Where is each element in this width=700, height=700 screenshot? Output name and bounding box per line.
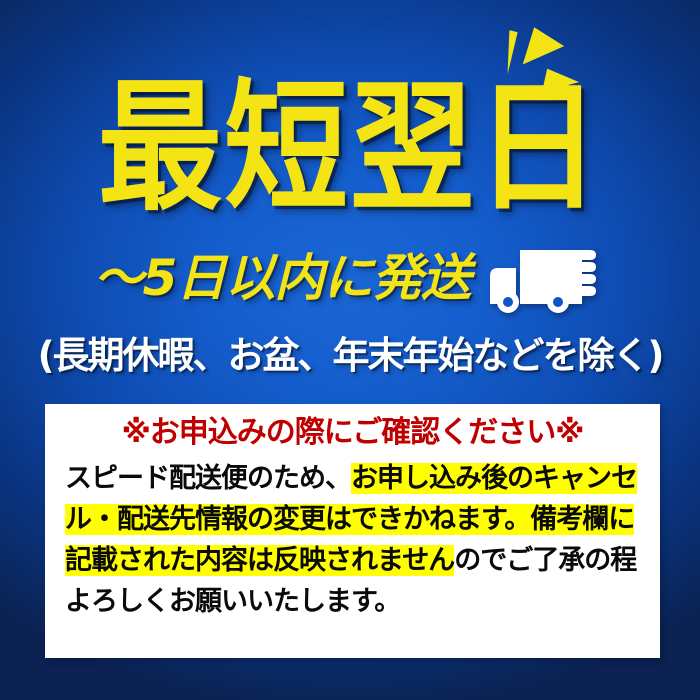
notice-card: ※お申込みの際にご確認ください※ スピード配送便のため、お申し込み後のキャンセル…: [45, 404, 660, 658]
shipping-timeframe-text: 〜5日以内に発送: [94, 253, 471, 303]
sparkle-ray-2-icon: [523, 27, 566, 68]
notice-card-title: ※お申込みの際にご確認ください※: [63, 414, 642, 452]
notice-card-body: スピード配送便のため、お申し込み後のキャンセル・配送先情報の変更はできかねます。…: [63, 458, 642, 622]
subline-container: 〜5日以内に発送: [0, 242, 700, 314]
delivery-truck-icon: [486, 242, 606, 314]
promo-banner: 最短翌日 〜5日以内に発送 (長期休暇、お盆、年末年始などを除く) ※お申込みの…: [0, 0, 700, 700]
notice-segment-plain-1: スピード配送便のため、: [65, 463, 351, 494]
exclusions-note: (長期休暇、お盆、年末年始などを除く): [0, 336, 700, 377]
headline-container: 最短翌日: [0, 78, 700, 202]
page-title: 最短翌日: [98, 78, 602, 219]
